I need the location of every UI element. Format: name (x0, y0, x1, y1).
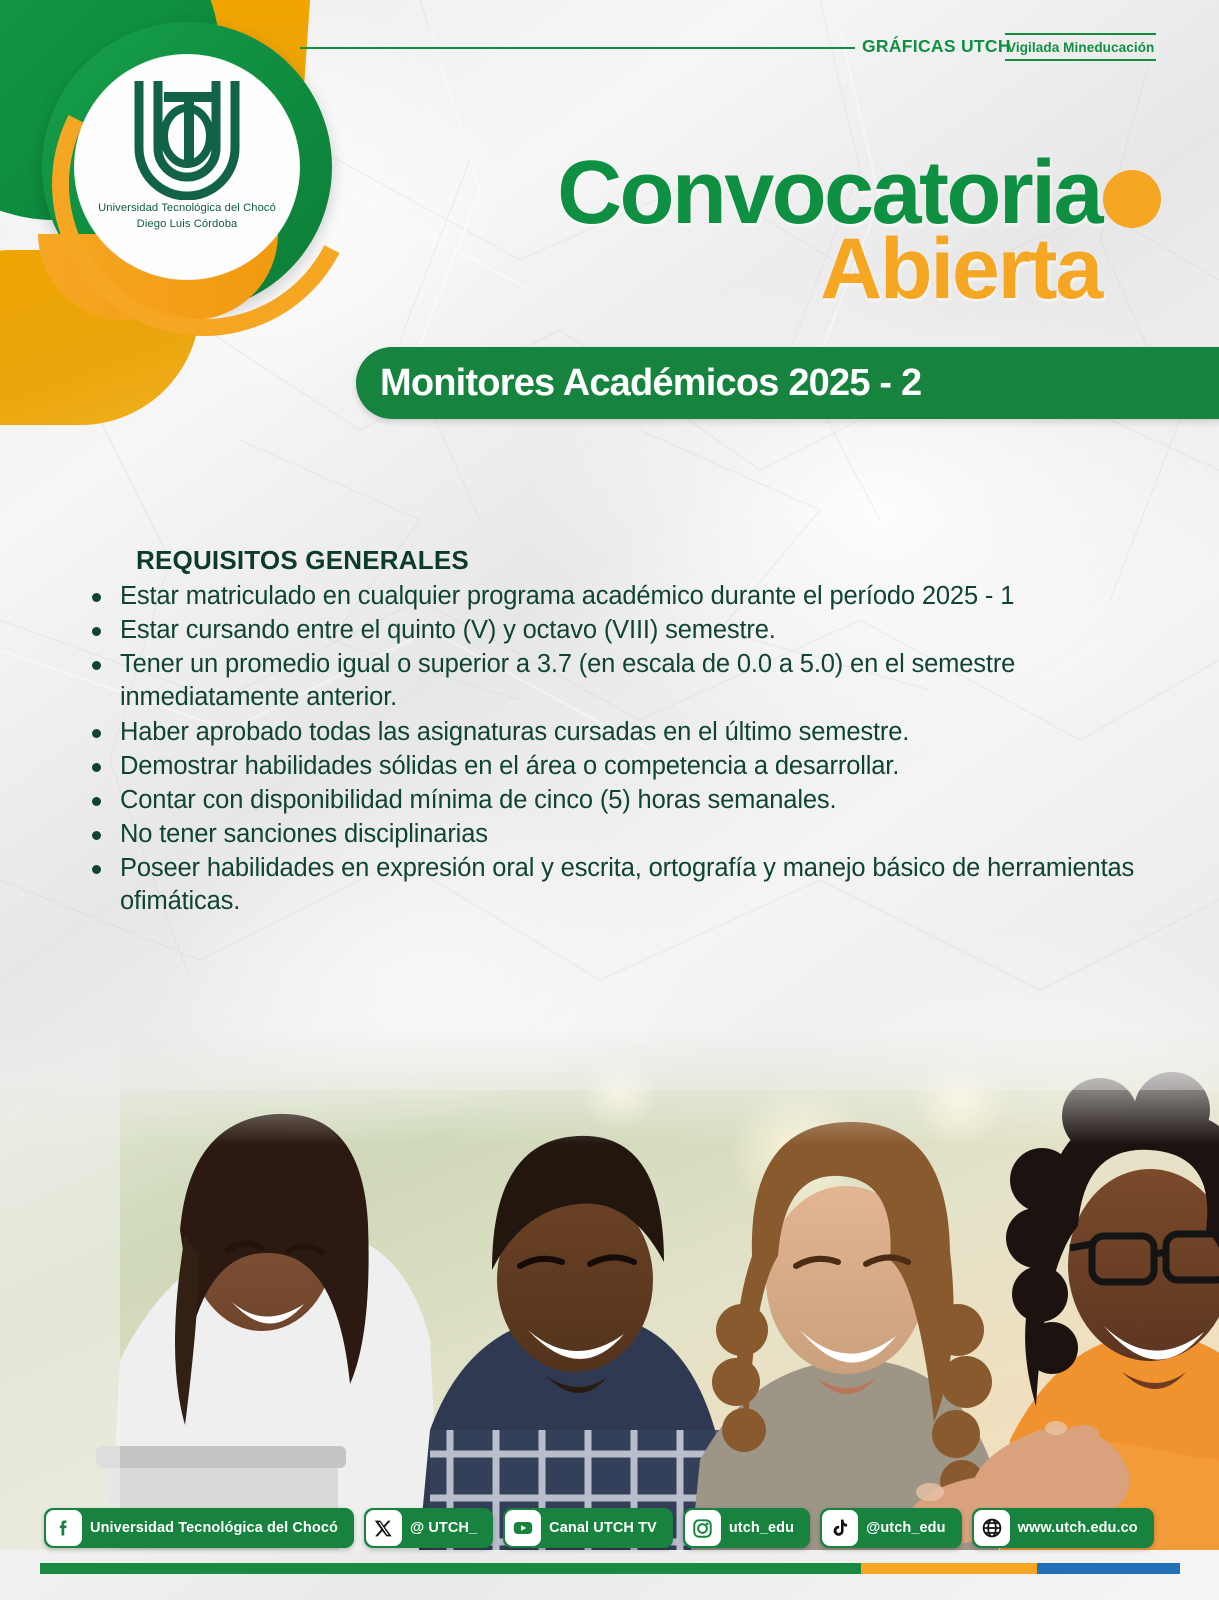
subtitle-pill: Monitores Académicos 2025 - 2 (356, 347, 1219, 419)
social-label: utch_edu (729, 1520, 794, 1536)
social-badge-youtube[interactable]: Canal UTCH TV (503, 1508, 673, 1548)
social-label: @utch_edu (866, 1520, 946, 1536)
requirements-title: REQUISITOS GENERALES (136, 545, 1168, 576)
poster-canvas: Universidad Tecnológica del Chocó Diego … (0, 0, 1219, 1600)
bottom-color-bar (40, 1563, 1180, 1574)
social-bar: Universidad Tecnológica del Chocó @ UTCH… (44, 1508, 1179, 1548)
social-badge-website[interactable]: www.utch.edu.co (972, 1508, 1154, 1548)
social-badge-instagram[interactable]: utch_edu (683, 1508, 810, 1548)
header-divider-line (300, 47, 855, 49)
youtube-icon (505, 1510, 541, 1546)
bar-segment-blue (1037, 1563, 1180, 1574)
bar-segment-green (40, 1563, 861, 1574)
social-label: www.utch.edu.co (1018, 1520, 1138, 1536)
list-item: Estar cursando entre el quinto (V) y oct… (78, 614, 1168, 647)
students-photo (0, 1030, 1219, 1550)
decor-orange-dot (1103, 170, 1161, 228)
list-item: Poseer habilidades en expresión oral y e… (78, 852, 1168, 918)
requirements-section: REQUISITOS GENERALES Estar matriculado e… (78, 545, 1168, 919)
logo-caption-line1: Universidad Tecnológica del Chocó (98, 202, 276, 216)
tiktok-icon (822, 1510, 858, 1546)
university-logo: Universidad Tecnológica del Chocó Diego … (74, 54, 300, 280)
list-item: No tener sanciones disciplinarias (78, 818, 1168, 851)
globe-icon (974, 1510, 1010, 1546)
social-label: Canal UTCH TV (549, 1520, 657, 1536)
list-item: Tener un promedio igual o superior a 3.7… (78, 648, 1168, 714)
subtitle-text: Monitores Académicos 2025 - 2 (380, 362, 921, 405)
utch-monogram-icon (124, 76, 250, 200)
social-badge-facebook[interactable]: Universidad Tecnológica del Chocó (44, 1508, 354, 1548)
social-label: @ UTCH_ (410, 1520, 477, 1536)
list-item: Estar matriculado en cualquier programa … (78, 580, 1168, 613)
logo-caption-line2: Diego Luis Córdoba (137, 218, 238, 232)
vigilada-mineducacion-label: Vigilada Mineducación (1005, 33, 1156, 61)
list-item: Contar con disponibilidad mínima de cinc… (78, 784, 1168, 817)
requirements-list: Estar matriculado en cualquier programa … (78, 580, 1168, 918)
social-label: Universidad Tecnológica del Chocó (90, 1520, 338, 1536)
instagram-icon (685, 1510, 721, 1546)
bar-segment-orange (861, 1563, 1038, 1574)
facebook-icon (46, 1510, 82, 1546)
list-item: Haber aprobado todas las asignaturas cur… (78, 716, 1168, 749)
social-badge-x[interactable]: @ UTCH_ (364, 1508, 493, 1548)
list-item: Demostrar habilidades sólidas en el área… (78, 750, 1168, 783)
x-twitter-icon (366, 1510, 402, 1546)
social-badge-tiktok[interactable]: @utch_edu (820, 1508, 962, 1548)
graficas-utch-label: GRÁFICAS UTCH (862, 36, 1011, 57)
